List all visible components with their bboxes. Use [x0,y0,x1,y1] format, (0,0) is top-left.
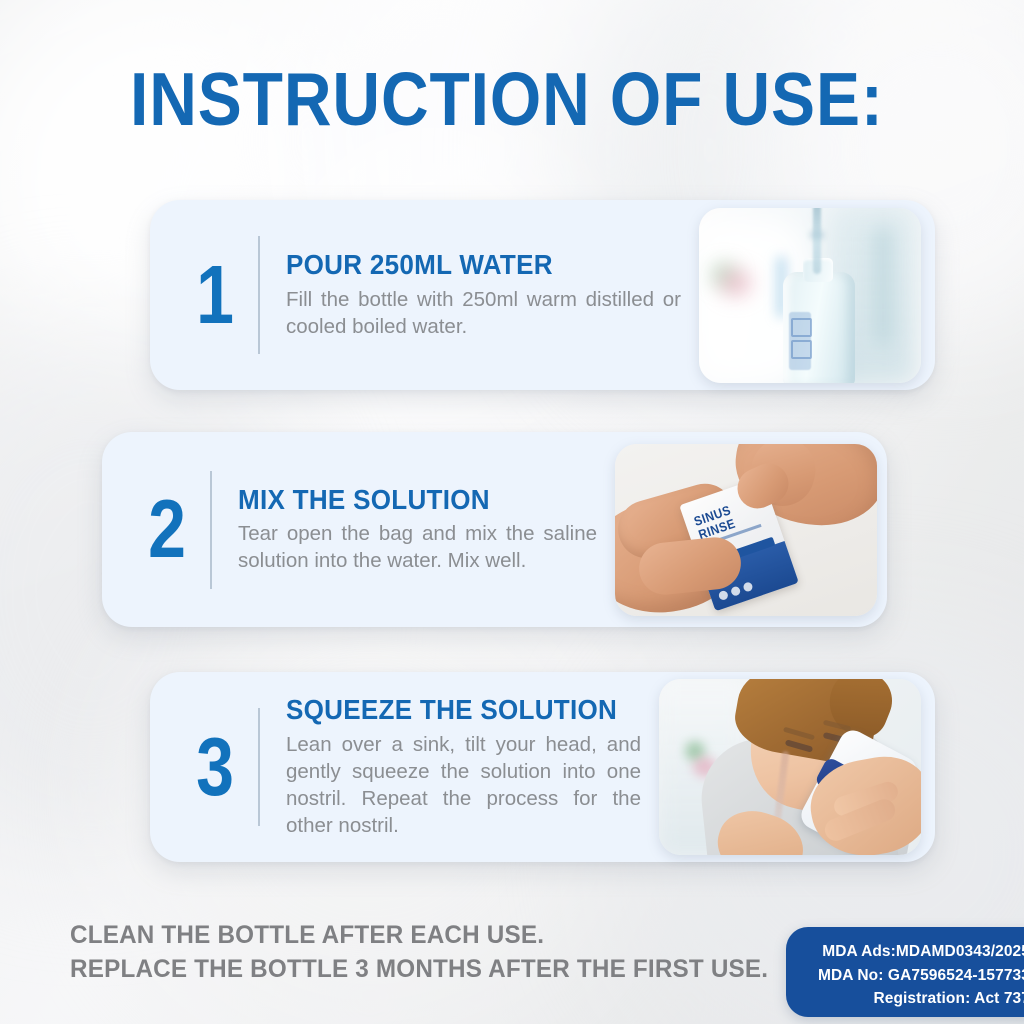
step-image-2: SINUS RINSE [615,444,877,616]
step-image-3: SINUS RINSE [659,679,921,855]
step-card-3: 3 SQUEEZE THE SOLUTION Lean over a sink,… [150,672,935,862]
badge-mda-ads: MDA Ads:MDAMD0343/2025 [802,940,1024,964]
step-title-2: MIX THE SOLUTION [238,485,572,515]
step-text-1: POUR 250ML WATER Fill the bottle with 25… [286,250,699,339]
badge-mda-no: MDA No: GA7596524-157733 [802,964,1024,988]
regulatory-badge: MDA Ads:MDAMD0343/2025 MDA No: GA7596524… [786,927,1024,1017]
step-title-1: POUR 250ML WATER [286,250,653,280]
step-body-3: Lean over a sink, tilt your head, and ge… [286,731,641,839]
step-card-2: 2 MIX THE SOLUTION Tear open the bag and… [102,432,887,627]
footer-line-1: CLEAN THE BOTTLE AFTER EACH USE. [70,918,788,952]
footer-line-2: REPLACE THE BOTTLE 3 MONTHS AFTER THE FI… [70,952,788,986]
step-divider-3 [258,708,260,826]
step-image-1 [699,208,921,383]
page-title: INSTRUCTION OF USE: [130,62,884,137]
step-divider-1 [258,236,260,354]
instruction-infographic: INSTRUCTION OF USE: 1 POUR 250ML WATER F… [0,0,1024,1024]
step-divider-2 [210,471,212,589]
step-number-1: 1 [180,256,251,335]
badge-registration: Registration: Act 737 [802,987,1024,1011]
step-number-2: 2 [132,490,203,569]
step-body-2: Tear open the bag and mix the saline sol… [238,520,597,574]
step-text-3: SQUEEZE THE SOLUTION Lean over a sink, t… [286,695,659,838]
step-body-1: Fill the bottle with 250ml warm distille… [286,286,681,340]
step-number-3: 3 [180,728,251,807]
step-text-2: MIX THE SOLUTION Tear open the bag and m… [238,485,615,574]
step-card-1: 1 POUR 250ML WATER Fill the bottle with … [150,200,935,390]
step-title-3: SQUEEZE THE SOLUTION [286,695,616,725]
footer-note: CLEAN THE BOTTLE AFTER EACH USE. REPLACE… [70,918,788,986]
